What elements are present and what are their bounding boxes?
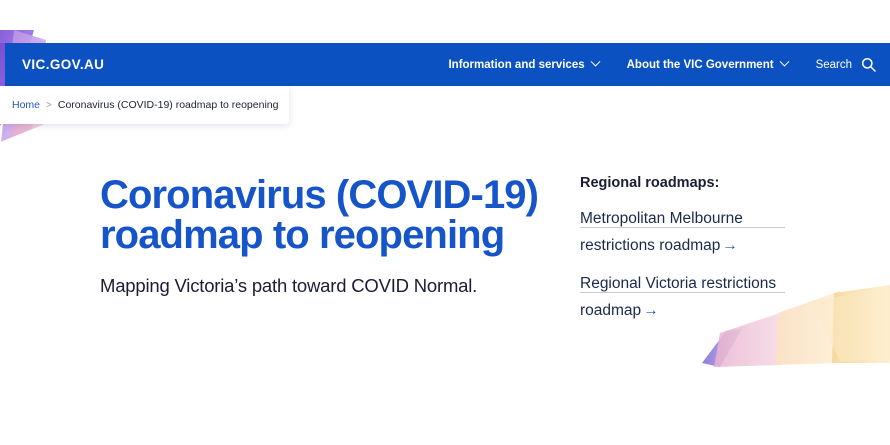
page-content: Coronavirus (COVID-19) roadmap to reopen…: [0, 175, 890, 337]
main-navigation: Information and services About the VIC G…: [448, 57, 890, 72]
site-logo[interactable]: VIC.GOV.AU: [22, 57, 104, 72]
breadcrumb: Home > Coronavirus (COVID-19) roadmap to…: [0, 86, 289, 124]
link-label: Regional Victoria restrictions roadmap: [580, 275, 776, 319]
page-title: Coronavirus (COVID-19) roadmap to reopen…: [100, 175, 550, 255]
arrow-right-icon: →: [720, 237, 738, 254]
breadcrumb-link-home[interactable]: Home: [12, 99, 40, 111]
search-label: Search: [816, 59, 852, 71]
breadcrumb-separator-icon: >: [46, 100, 52, 111]
link-metropolitan-melbourne-restrictions-roadmap[interactable]: Metropolitan Melbourne restrictions road…: [580, 206, 785, 259]
sidebar-regional-roadmaps: Regional roadmaps: Metropolitan Melbourn…: [560, 175, 890, 337]
search-icon[interactable]: [861, 57, 876, 72]
link-regional-victoria-restrictions-roadmap[interactable]: Regional Victoria restrictions roadmap→: [580, 271, 785, 324]
page-root: VIC.GOV.AU Information and services Abou…: [0, 0, 890, 445]
sidebar-title: Regional roadmaps:: [580, 175, 890, 191]
header-accent-edge: [0, 43, 5, 86]
chevron-down-icon: [779, 57, 789, 67]
link-label: Metropolitan Melbourne restrictions road…: [580, 210, 743, 254]
breadcrumb-current-page: Coronavirus (COVID-19) roadmap to reopen…: [58, 99, 279, 111]
nav-item-information-and-services[interactable]: Information and services: [448, 59, 598, 71]
chevron-down-icon: [590, 57, 600, 67]
arrow-right-icon: →: [641, 302, 659, 319]
main-column: Coronavirus (COVID-19) roadmap to reopen…: [0, 175, 560, 337]
site-header: VIC.GOV.AU Information and services Abou…: [0, 43, 890, 86]
page-subtitle: Mapping Victoria’s path toward COVID Nor…: [100, 275, 560, 297]
nav-item-label: Information and services: [448, 59, 584, 71]
nav-item-label: About the VIC Government: [627, 59, 774, 71]
search-button[interactable]: Search: [816, 57, 876, 72]
nav-item-about-the-vic-government[interactable]: About the VIC Government: [627, 59, 788, 71]
